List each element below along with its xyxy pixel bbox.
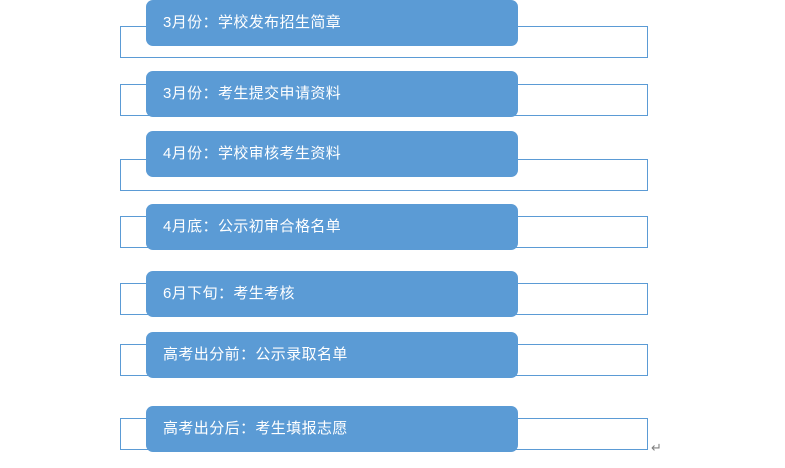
step-label: 6月下旬：考生考核 bbox=[146, 285, 295, 303]
process-flow-diagram: 3月份：学校发布招生简章 3月份：考生提交申请资料 4月份：学校审核考生资料 4… bbox=[0, 0, 785, 468]
step-label: 3月份：学校发布招生简章 bbox=[146, 14, 341, 32]
step-box[interactable]: 6月下旬：考生考核 bbox=[146, 271, 518, 317]
step-box[interactable]: 4月份：学校审核考生资料 bbox=[146, 131, 518, 177]
step-box[interactable]: 3月份：考生提交申请资料 bbox=[146, 71, 518, 117]
step-box[interactable]: 高考出分后：考生填报志愿 bbox=[146, 406, 518, 452]
step-label: 3月份：考生提交申请资料 bbox=[146, 85, 341, 103]
step-label: 高考出分前：公示录取名单 bbox=[146, 346, 348, 364]
step-box[interactable]: 4月底：公示初审合格名单 bbox=[146, 204, 518, 250]
paragraph-mark-icon: ↵ bbox=[651, 441, 662, 455]
step-label: 高考出分后：考生填报志愿 bbox=[146, 420, 348, 438]
step-box[interactable]: 3月份：学校发布招生简章 bbox=[146, 0, 518, 46]
step-label: 4月底：公示初审合格名单 bbox=[146, 218, 341, 236]
step-box[interactable]: 高考出分前：公示录取名单 bbox=[146, 332, 518, 378]
step-label: 4月份：学校审核考生资料 bbox=[146, 145, 341, 163]
